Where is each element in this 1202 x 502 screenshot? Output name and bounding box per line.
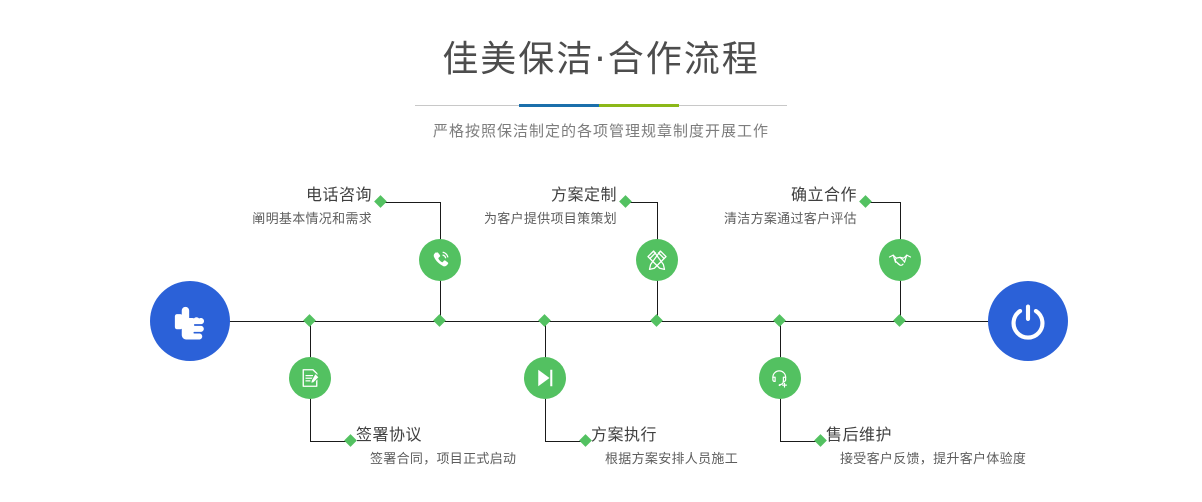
step-5-node[interactable]: [879, 239, 921, 281]
play-forward-icon: [533, 366, 557, 390]
step-3-subtitle: 为客户提供项目策策划: [381, 213, 617, 226]
process-timeline: 电话咨询 阐明基本情况和需求 签署协议 签署合同，项目正式启动: [0, 160, 1202, 502]
timeline-end-cap: [988, 281, 1068, 361]
step-4-subtitle: 根据方案安排人员施工: [605, 453, 831, 466]
page-header: 佳美保洁·合作流程 严格按照保洁制定的各项管理规章制度开展工作: [0, 0, 1202, 141]
timeline-start-cap: [150, 281, 230, 361]
step-2-label: 签署协议 签署合同，项目正式启动: [356, 427, 596, 466]
step-6-node[interactable]: [759, 357, 801, 399]
document-sign-icon: [298, 366, 322, 390]
step-2-label-marker: [344, 434, 357, 447]
step-5-label-marker: [859, 195, 872, 208]
step-4-axis-marker: [538, 314, 551, 327]
step-6-subtitle: 接受客户反馈，提升客户体验度: [840, 453, 1086, 466]
handshake-icon: [888, 248, 912, 272]
page-title: 佳美保洁·合作流程: [0, 42, 1202, 78]
step-2-node[interactable]: [289, 357, 331, 399]
pencil-ruler-icon: [645, 248, 669, 272]
step-6-title: 售后维护: [826, 427, 1086, 443]
step-1-axis-marker: [433, 314, 446, 327]
step-1-label: 电话咨询 阐明基本情况和需求: [136, 187, 372, 226]
page-subtitle: 严格按照保洁制定的各项管理规章制度开展工作: [0, 120, 1202, 141]
flow-diagram-page: 佳美保洁·合作流程 严格按照保洁制定的各项管理规章制度开展工作: [0, 0, 1202, 502]
step-6-axis-marker: [773, 314, 786, 327]
phone-call-icon: [428, 248, 452, 272]
step-3-node[interactable]: [636, 239, 678, 281]
step-1-subtitle: 阐明基本情况和需求: [136, 213, 372, 226]
step-3-axis-marker: [650, 314, 663, 327]
divider-green-segment: [599, 104, 679, 107]
step-5-title: 确立合作: [621, 187, 857, 203]
step-2-subtitle: 签署合同，项目正式启动: [370, 453, 596, 466]
step-1-node[interactable]: [419, 239, 461, 281]
step-5-axis-marker: [893, 314, 906, 327]
divider-blue-segment: [519, 104, 599, 107]
step-6-label: 售后维护 接受客户反馈，提升客户体验度: [826, 427, 1086, 466]
customer-support-icon: [768, 366, 792, 390]
power-icon: [1006, 299, 1050, 343]
step-2-axis-marker: [303, 314, 316, 327]
step-3-label: 方案定制 为客户提供项目策策划: [381, 187, 617, 226]
pointing-hand-icon: [168, 299, 212, 343]
step-4-node[interactable]: [524, 357, 566, 399]
step-3-title: 方案定制: [381, 187, 617, 203]
title-divider: [415, 104, 787, 107]
step-4-label: 方案执行 根据方案安排人员施工: [591, 427, 831, 466]
step-5-label: 确立合作 清洁方案通过客户评估: [621, 187, 857, 226]
step-1-title: 电话咨询: [136, 187, 372, 203]
step-5-subtitle: 清洁方案通过客户评估: [621, 213, 857, 226]
